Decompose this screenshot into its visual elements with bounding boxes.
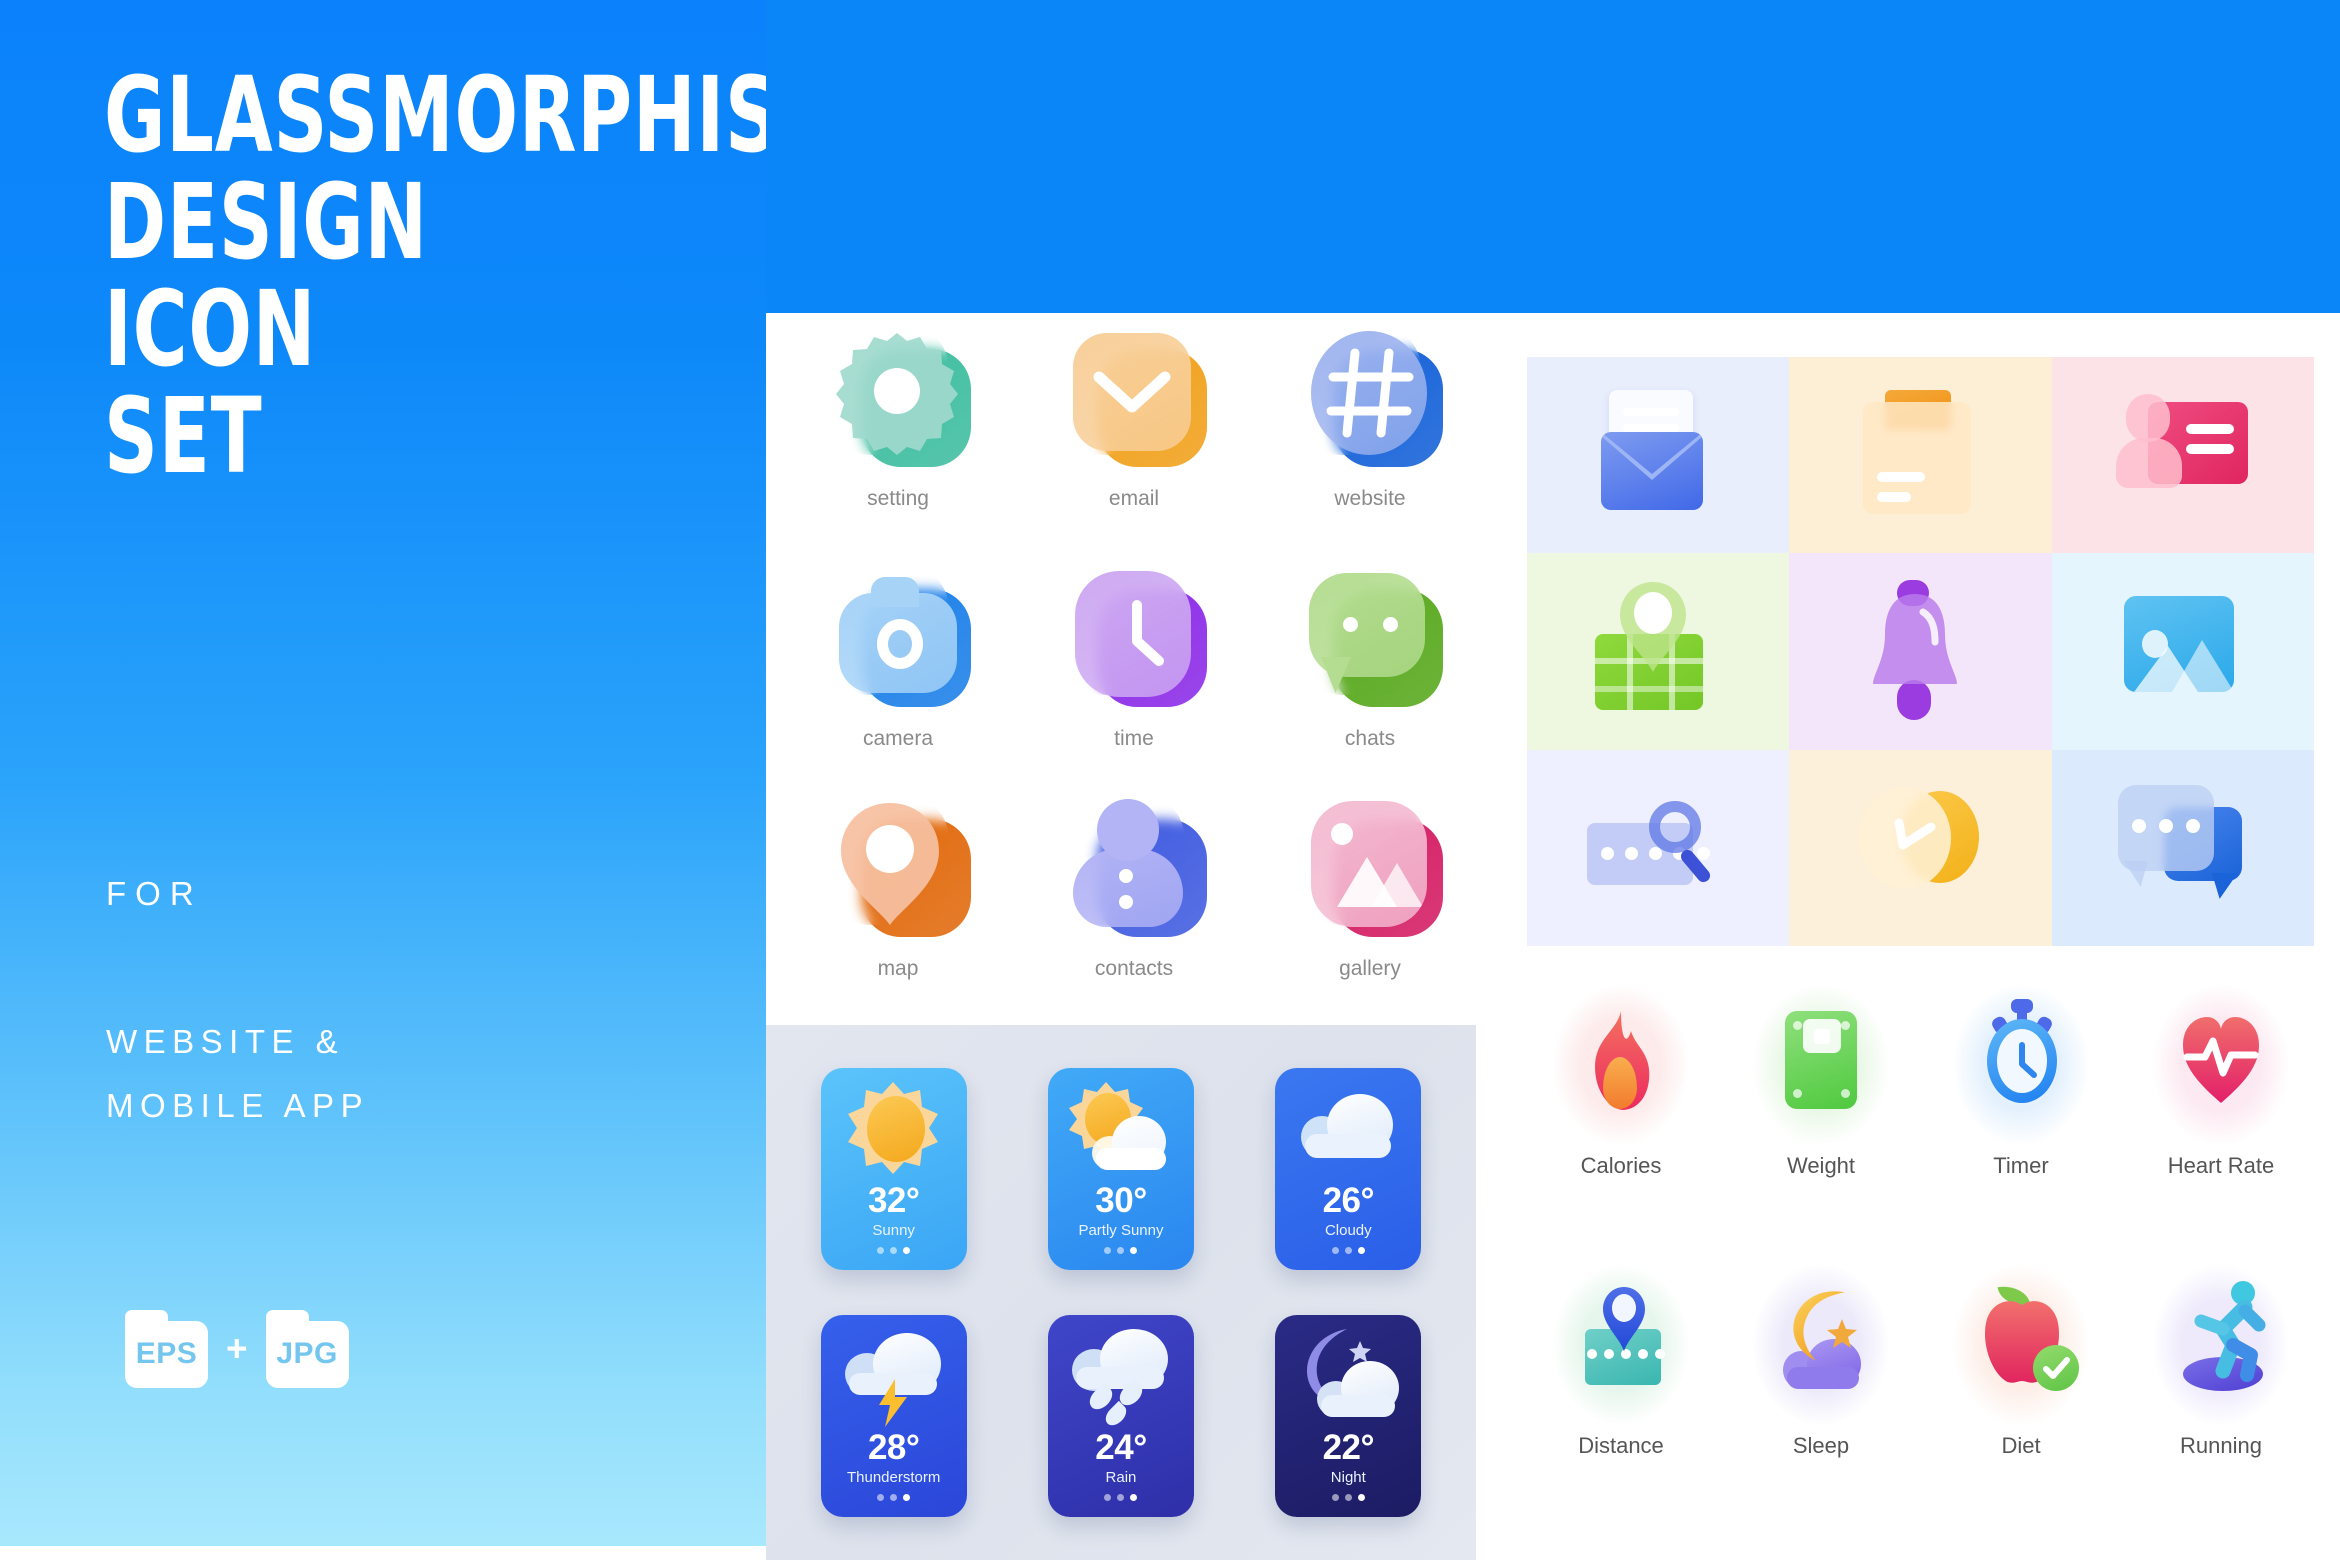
tile-photo[interactable] xyxy=(2052,553,2314,749)
stopwatch-icon xyxy=(1953,985,2089,1145)
fitness-icon-label: Diet xyxy=(1921,1433,2121,1459)
weather-page-dots[interactable] xyxy=(877,1247,910,1254)
fitness-icon-label: Sleep xyxy=(1721,1433,1921,1459)
fitness-icon-label: Heart Rate xyxy=(2121,1153,2321,1179)
app-icon-label: website xyxy=(1252,487,1488,511)
app-icon-website[interactable]: website xyxy=(1252,313,1488,511)
weather-condition: Sunny xyxy=(872,1222,915,1239)
sun-icon xyxy=(839,1082,949,1177)
sun-cloud-icon xyxy=(1066,1082,1176,1177)
weather-condition: Rain xyxy=(1106,1469,1137,1486)
map-location-icon xyxy=(1583,576,1733,726)
app-icon-label: gallery xyxy=(1252,957,1488,981)
weather-card-thunderstorm[interactable]: 28° Thunderstorm xyxy=(821,1315,967,1517)
open-mail-icon xyxy=(1583,380,1733,530)
contact-card-icon xyxy=(2108,380,2258,530)
format-badge-jpg[interactable]: JPG xyxy=(266,1310,349,1388)
hero-subtitle: WEBSITE & MOBILE APP xyxy=(106,1010,369,1138)
weather-condition: Night xyxy=(1331,1469,1366,1486)
weather-temperature: 28° xyxy=(868,1428,919,1468)
app-icon-label: map xyxy=(780,957,1016,981)
format-badges: EPS + JPG xyxy=(125,1310,349,1388)
fitness-icon-label: Timer xyxy=(1921,1153,2121,1179)
pastel-tile-grid xyxy=(1527,357,2314,946)
weather-card-partly-sunny[interactable]: 30° Partly Sunny xyxy=(1048,1068,1194,1270)
fitness-icon-calories[interactable]: Calories xyxy=(1521,985,1721,1265)
weather-page-dots[interactable] xyxy=(1332,1494,1365,1501)
globe-hash-icon xyxy=(1285,313,1455,483)
weather-page-dots[interactable] xyxy=(877,1494,910,1501)
weather-temperature: 30° xyxy=(1095,1181,1146,1221)
photo-icon xyxy=(2108,576,2258,726)
app-icon-email[interactable]: email xyxy=(1016,313,1252,511)
chat-dots-icon xyxy=(2108,773,2258,923)
weather-page-dots[interactable] xyxy=(1332,1247,1365,1254)
thunderstorm-icon xyxy=(839,1329,949,1424)
weather-page-dots[interactable] xyxy=(1104,1494,1137,1501)
app-icon-chats[interactable]: chats xyxy=(1252,553,1488,751)
clock-icon xyxy=(1049,553,1219,723)
folder-doc-icon xyxy=(1845,380,1995,530)
password-search-icon xyxy=(1583,773,1733,923)
fitness-icon-sleep[interactable]: Sleep xyxy=(1721,1265,1921,1545)
scale-icon xyxy=(1753,985,1889,1145)
clock-coin-icon xyxy=(1845,773,1995,923)
weather-condition: Cloudy xyxy=(1325,1222,1372,1239)
fitness-icon-label: Running xyxy=(2121,1433,2321,1459)
tile-contact-card[interactable] xyxy=(2052,357,2314,553)
format-badge-eps[interactable]: EPS xyxy=(125,1310,208,1388)
heartbeat-icon xyxy=(2153,985,2289,1145)
tile-password-search[interactable] xyxy=(1527,750,1789,946)
gear-icon xyxy=(813,313,983,483)
tile-open-mail[interactable] xyxy=(1527,357,1789,553)
weather-temperature: 32° xyxy=(868,1181,919,1221)
weather-card-night[interactable]: 22° Night xyxy=(1275,1315,1421,1517)
hero-for-label: FOR xyxy=(106,875,203,913)
chat-bubble-icon xyxy=(1285,553,1455,723)
app-icon-label: chats xyxy=(1252,727,1488,751)
fitness-icon-label: Weight xyxy=(1721,1153,1921,1179)
app-icon-setting[interactable]: setting xyxy=(780,313,1016,511)
app-icon-contacts[interactable]: contacts xyxy=(1016,783,1252,981)
weather-condition: Partly Sunny xyxy=(1078,1222,1163,1239)
hero-panel: GLASSMORPHISM DESIGN ICON SET FOR WEBSIT… xyxy=(0,0,766,1546)
weather-page-dots[interactable] xyxy=(1104,1247,1137,1254)
weather-card-cloudy[interactable]: 26° Cloudy xyxy=(1275,1068,1421,1270)
app-icon-label: camera xyxy=(780,727,1016,751)
weather-temperature: 26° xyxy=(1323,1181,1374,1221)
format-label: JPG xyxy=(276,1337,338,1371)
weather-condition: Thunderstorm xyxy=(847,1469,940,1486)
app-icon-grid: setting email website camera time xyxy=(766,313,1476,1013)
fitness-icon-weight[interactable]: Weight xyxy=(1721,985,1921,1265)
app-icon-label: time xyxy=(1016,727,1252,751)
camera-icon xyxy=(813,553,983,723)
moon-cloud-icon xyxy=(1293,1329,1403,1424)
flame-icon xyxy=(1553,985,1689,1145)
tile-bell[interactable] xyxy=(1789,553,2051,749)
page-title: GLASSMORPHISM DESIGN ICON SET xyxy=(104,62,766,490)
fitness-icon-label: Distance xyxy=(1521,1433,1721,1459)
rain-icon xyxy=(1066,1329,1176,1424)
cloud-icon xyxy=(1293,1082,1403,1177)
weather-temperature: 24° xyxy=(1095,1428,1146,1468)
envelope-icon xyxy=(1049,313,1219,483)
map-pin-icon xyxy=(813,783,983,953)
app-icon-gallery[interactable]: gallery xyxy=(1252,783,1488,981)
user-icon xyxy=(1049,783,1219,953)
fitness-icon-label: Calories xyxy=(1521,1153,1721,1179)
apple-check-icon xyxy=(1953,1265,2089,1425)
main-canvas: setting email website camera time xyxy=(766,313,2340,1560)
tile-folder-doc[interactable] xyxy=(1789,357,2051,553)
app-icon-label: setting xyxy=(780,487,1016,511)
tile-map-location[interactable] xyxy=(1527,553,1789,749)
fitness-icon-grid: Calories Weight Timer Heart Rate xyxy=(1521,985,2321,1545)
app-icon-time[interactable]: time xyxy=(1016,553,1252,751)
bell-icon xyxy=(1845,576,1995,726)
format-label: EPS xyxy=(136,1337,198,1371)
moon-star-icon xyxy=(1753,1265,1889,1425)
weather-card-sunny[interactable]: 32° Sunny xyxy=(821,1068,967,1270)
app-icon-label: contacts xyxy=(1016,957,1252,981)
fitness-icon-running[interactable]: Running xyxy=(2121,1265,2321,1545)
distance-pin-icon xyxy=(1553,1265,1689,1425)
fitness-icon-distance[interactable]: Distance xyxy=(1521,1265,1721,1545)
weather-card-rain[interactable]: 24° Rain xyxy=(1048,1315,1194,1517)
tile-chat-dots[interactable] xyxy=(2052,750,2314,946)
picture-icon xyxy=(1285,783,1455,953)
runner-icon xyxy=(2153,1265,2289,1425)
app-icon-label: email xyxy=(1016,487,1252,511)
tile-clock-coin[interactable] xyxy=(1789,750,2051,946)
app-icon-camera[interactable]: camera xyxy=(780,553,1016,751)
weather-temperature: 22° xyxy=(1323,1428,1374,1468)
plus-icon: + xyxy=(226,1328,248,1370)
app-icon-map[interactable]: map xyxy=(780,783,1016,981)
weather-card-panel: 32° Sunny 30° Partly Sunny 26° Cloudy xyxy=(766,1025,1476,1560)
fitness-icon-heart-rate[interactable]: Heart Rate xyxy=(2121,985,2321,1265)
fitness-icon-timer[interactable]: Timer xyxy=(1921,985,2121,1265)
fitness-icon-diet[interactable]: Diet xyxy=(1921,1265,2121,1545)
